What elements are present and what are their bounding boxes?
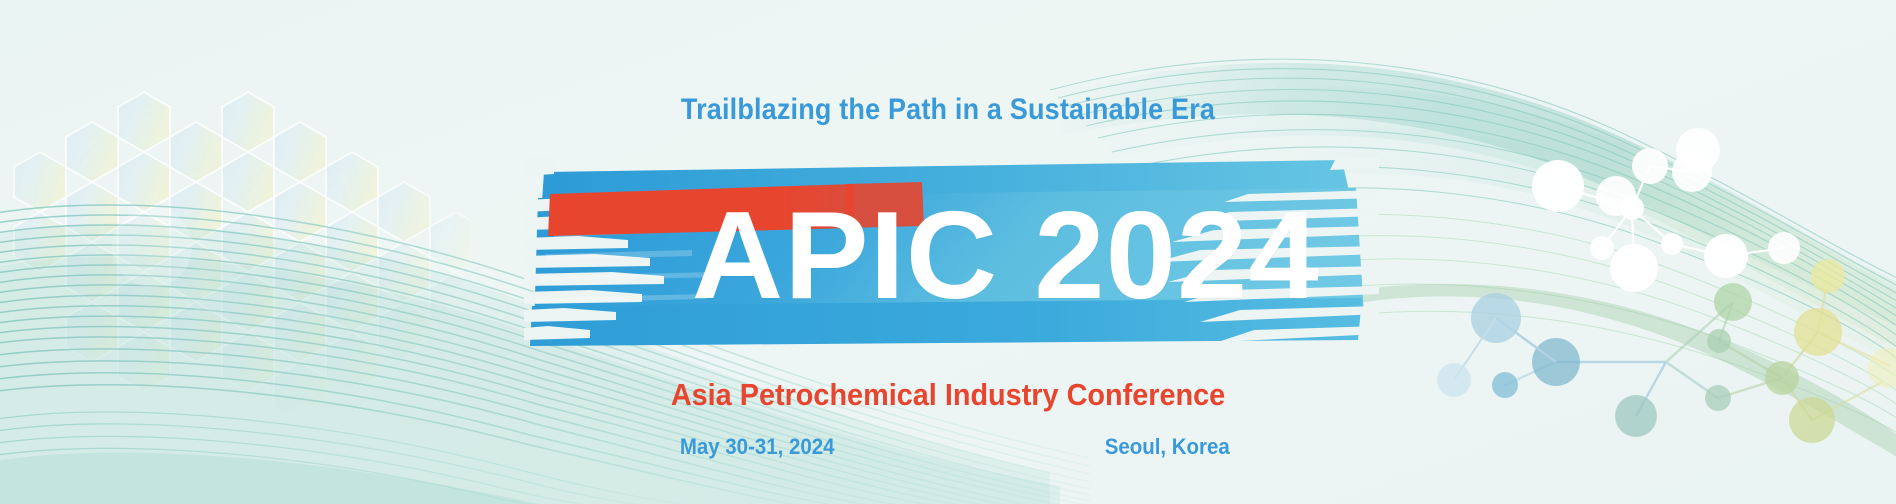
apic-logo-text: APIC 2024 [692,194,1320,318]
event-meta-row: May 30-31, 2024 Seoul, Korea [674,434,1234,460]
apic-logo-block: APIC 2024 [524,158,1379,348]
apic-logo-text-wrap: APIC 2024 [524,158,1379,348]
event-dates: May 30-31, 2024 [680,434,835,460]
conference-name: Asia Petrochemical Industry Conference [66,377,1829,413]
banner-tagline: Trailblazing the Path in a Sustainable E… [95,93,1801,127]
event-location: Seoul, Korea [1104,434,1229,460]
banner-content: Trailblazing the Path in a Sustainable E… [0,0,1896,504]
apic-2024-banner: Trailblazing the Path in a Sustainable E… [0,0,1896,504]
